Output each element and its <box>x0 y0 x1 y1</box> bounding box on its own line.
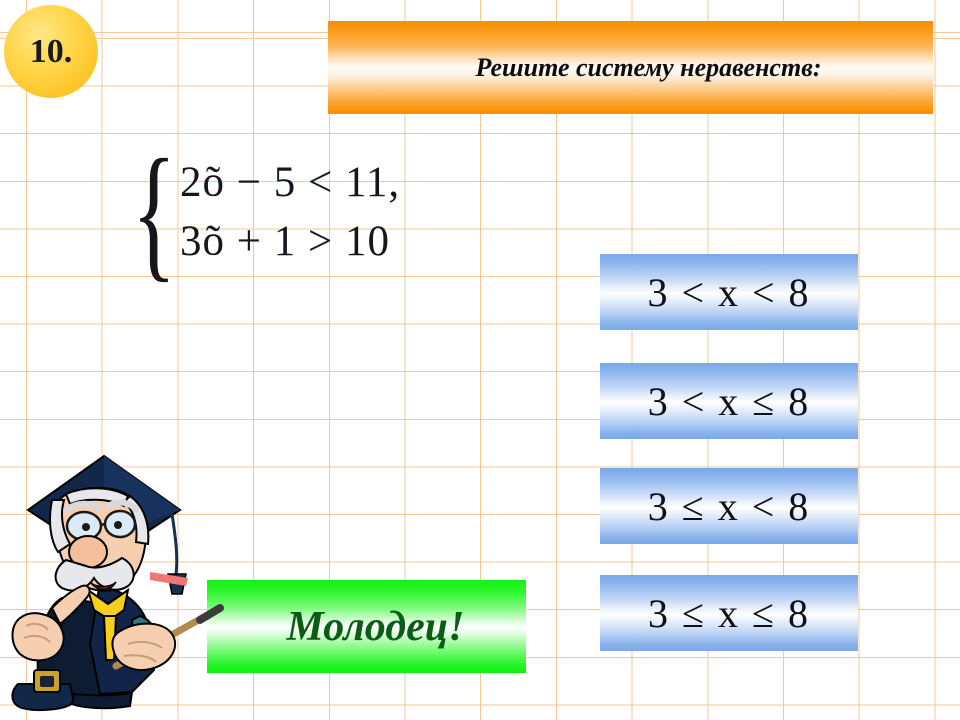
answer-option-2[interactable]: 3 < x ≤ 8 <box>600 363 858 439</box>
equation-list: 2õ − 5 < 11, 3õ + 1 > 10 <box>180 160 400 264</box>
system-brace: { <box>132 155 177 269</box>
answer-option-1-label: 3 < x < 8 <box>647 269 810 316</box>
professor-character-icon <box>4 448 254 720</box>
answer-option-4[interactable]: 3 ≤ x ≤ 8 <box>600 575 858 651</box>
equation-line-1: 2õ − 5 < 11, <box>180 160 400 205</box>
equation-line-2: 3õ + 1 > 10 <box>180 219 400 264</box>
answer-option-2-label: 3 < x ≤ 8 <box>648 378 811 425</box>
question-number-label: 10. <box>30 35 73 69</box>
answer-option-3[interactable]: 3 ≤ x < 8 <box>600 468 858 544</box>
title-banner: Решите систему неравенств: <box>328 21 933 114</box>
slide-canvas: 10. Решите систему неравенств: { 2õ − 5 … <box>0 0 960 720</box>
hand-right <box>112 624 175 670</box>
answer-option-1[interactable]: 3 < x < 8 <box>600 254 858 330</box>
inequality-system: { 2õ − 5 < 11, 3õ + 1 > 10 <box>118 155 400 269</box>
pupil-right <box>114 521 122 529</box>
pupil-left <box>82 523 90 531</box>
answer-option-4-label: 3 ≤ x ≤ 8 <box>648 590 810 637</box>
glasses-bridge <box>101 524 105 525</box>
pointer-stick-tip <box>200 608 220 620</box>
belt-buckle-inner <box>40 676 54 687</box>
feedback-label: Молодец! <box>269 603 465 651</box>
page-title: Решите систему неравенств: <box>440 53 822 83</box>
answer-option-3-label: 3 ≤ x < 8 <box>648 483 811 530</box>
question-number-badge: 10. <box>4 5 98 98</box>
feedback-banner: Молодец! <box>207 580 526 673</box>
tassel-cord <box>172 514 177 574</box>
